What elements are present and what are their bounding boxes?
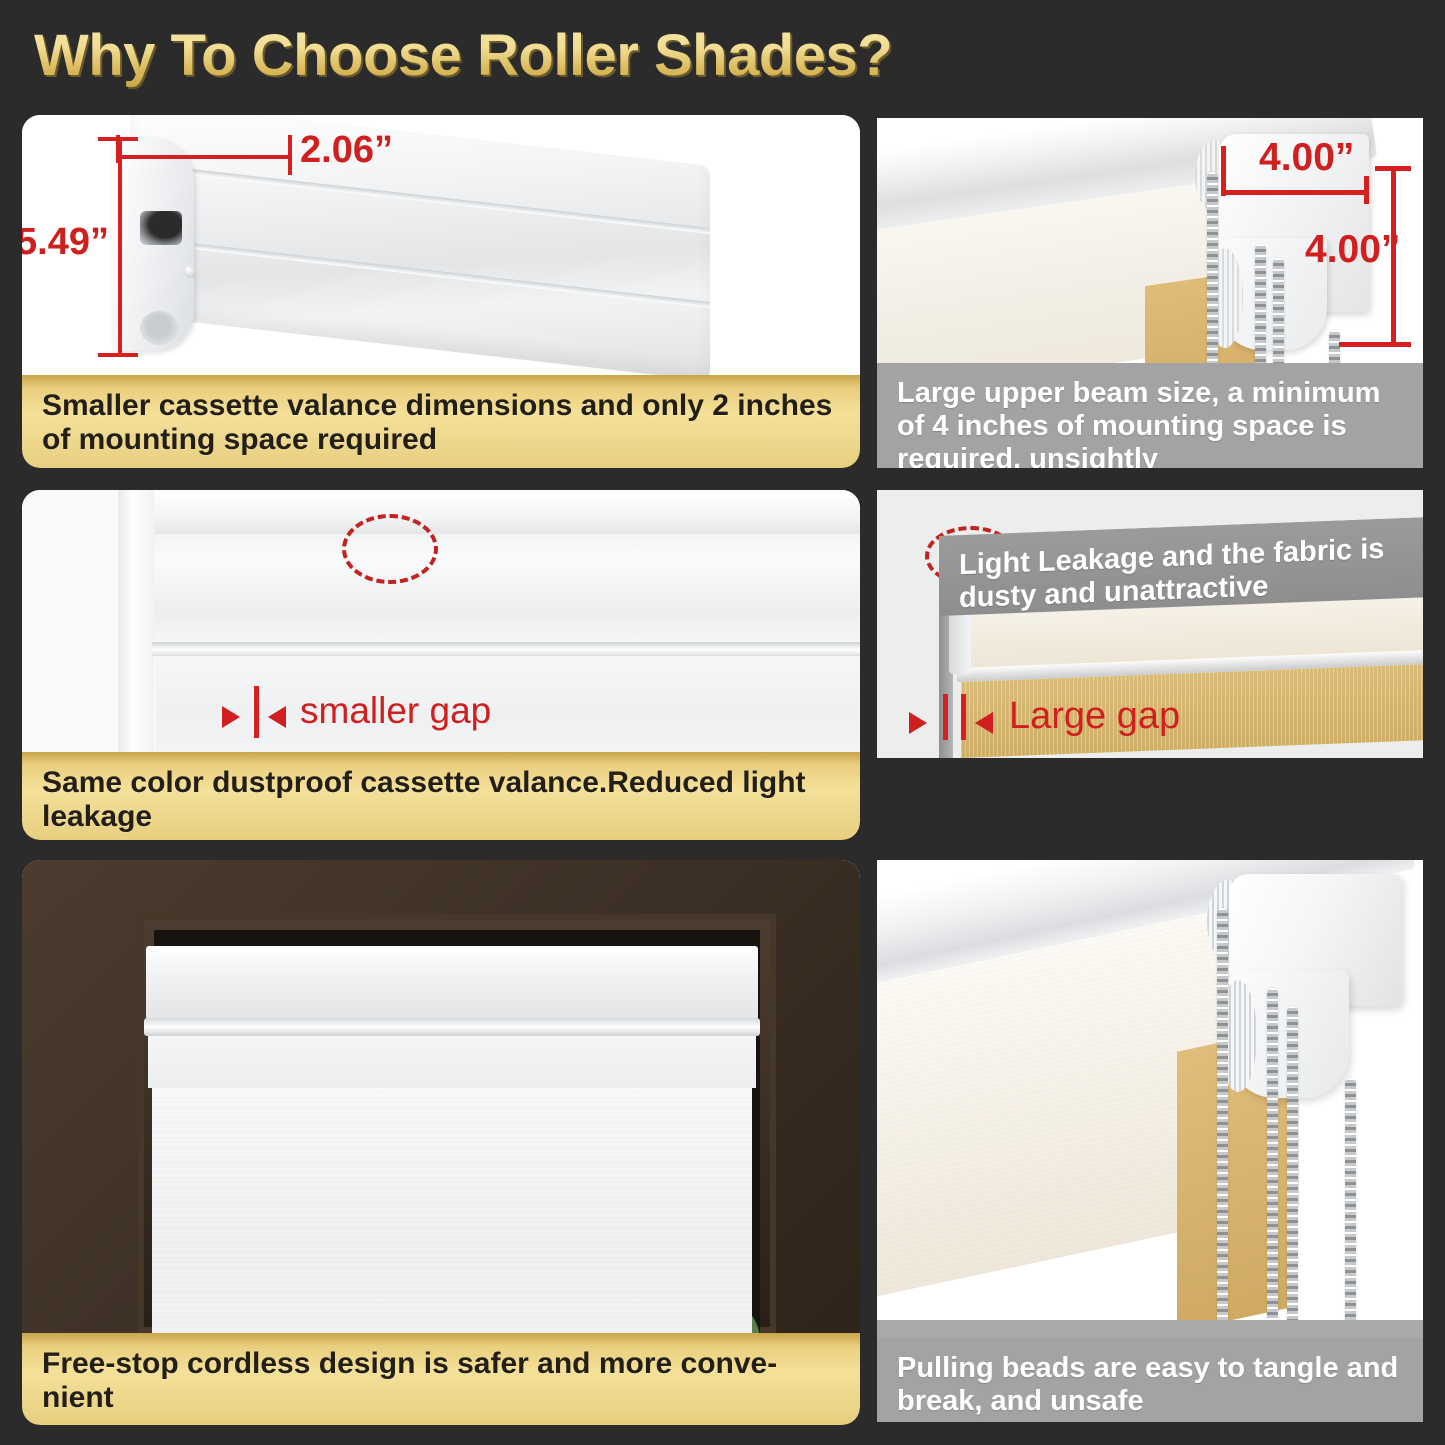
panel-3-photo: smaller gap [22,490,860,752]
panel-2-caption: Large upper beam size, a minimum of 4 in… [877,363,1423,468]
dim-beam-height-label: 4.00” [1305,228,1400,272]
gap-arrow-left-icon [222,706,240,728]
cassette-lower-slot-icon [140,311,178,345]
panel-smaller-cassette: 2.06” 5.49” Smaller cassette valance dim… [22,115,860,468]
bead-chain-4 [1345,1078,1356,1338]
bead-chain-2 [1255,244,1266,363]
dim-width-label: 2.06” [300,129,393,172]
dim-height-line [118,137,122,357]
gap-marker-line-1 [943,694,948,740]
panel-3-caption: Same color dustproof cassette valance.Re… [22,752,860,840]
gap-arrow-right-icon [268,706,286,728]
cassette-headrail [146,946,758,1020]
gap-marker-line [254,686,259,738]
bead-chain-1 [1217,908,1228,1338]
dim-height-tick-top [98,137,138,141]
surface-shadow [877,1320,1423,1338]
gap-arrow-right-icon [975,712,993,734]
panel-light-leakage: Large gap Light Leakage and the fabric i… [877,490,1423,838]
window-trim-side [118,490,154,752]
panel-5-caption: Free-stop cordless design is safer and m… [22,1333,860,1425]
bead-chain-3 [1287,1006,1298,1338]
highlight-circle-icon [342,514,438,584]
panel-1-photo: 2.06” 5.49” [22,115,860,375]
bead-chain-2 [1267,988,1278,1338]
panel-6-caption: Pulling beads are easy to tangle and bre… [877,1338,1423,1422]
panel-dustproof-cassette: smaller gap Same color dustproof cassett… [22,490,860,840]
dim-beam-height-tick-bottom [1339,342,1411,347]
bead-chain-1 [1207,172,1218,363]
panel-large-upper-beam: 4.00” 4.00” Large upper beam size, a min… [877,118,1423,468]
cassette-valance [154,534,860,646]
window-trim-top [118,490,860,534]
dim-height-label: 5.49” [22,221,109,264]
large-gap-label: Large gap [1009,695,1180,738]
panel-5-photo [22,860,860,1333]
headrail-bar [144,1018,760,1036]
dim-beam-width-label: 4.00” [1259,136,1354,180]
bead-chain-3 [1273,258,1284,363]
panel-2-photo: 4.00” 4.00” [877,118,1423,363]
shade-fabric [156,656,860,752]
valance-bottom-bar [152,642,860,656]
panel-1-caption: Smaller cassette valance dimensions and … [22,375,860,468]
panel-6-photo [877,860,1423,1338]
panel-cordless-design: Free-stop cordless design is safer and m… [22,860,860,1425]
roller-shade-fabric [152,1088,752,1333]
dim-beam-width-tick-right [1364,176,1369,204]
dim-height-tick-bottom [98,353,138,357]
dim-beam-width-line [1221,190,1369,195]
page-title: Why To Choose Roller Shades? [34,22,892,89]
dim-beam-height-tick-top [1375,166,1411,171]
valance-lower-band [148,1036,756,1088]
gap-arrow-left-icon [909,712,927,734]
gap-marker-line-2 [961,694,966,740]
infographic-page: Why To Choose Roller Shades? Why To Choo… [0,0,1445,1445]
dim-width-line [116,155,292,159]
dim-beam-width-tick-left [1221,146,1226,196]
dim-width-tick-right [288,135,292,175]
cassette-screw-icon [184,265,197,278]
smaller-gap-label: smaller gap [300,690,491,732]
cassette-slot-icon [140,211,182,245]
panel-pulling-beads: Pulling beads are easy to tangle and bre… [877,860,1423,1422]
